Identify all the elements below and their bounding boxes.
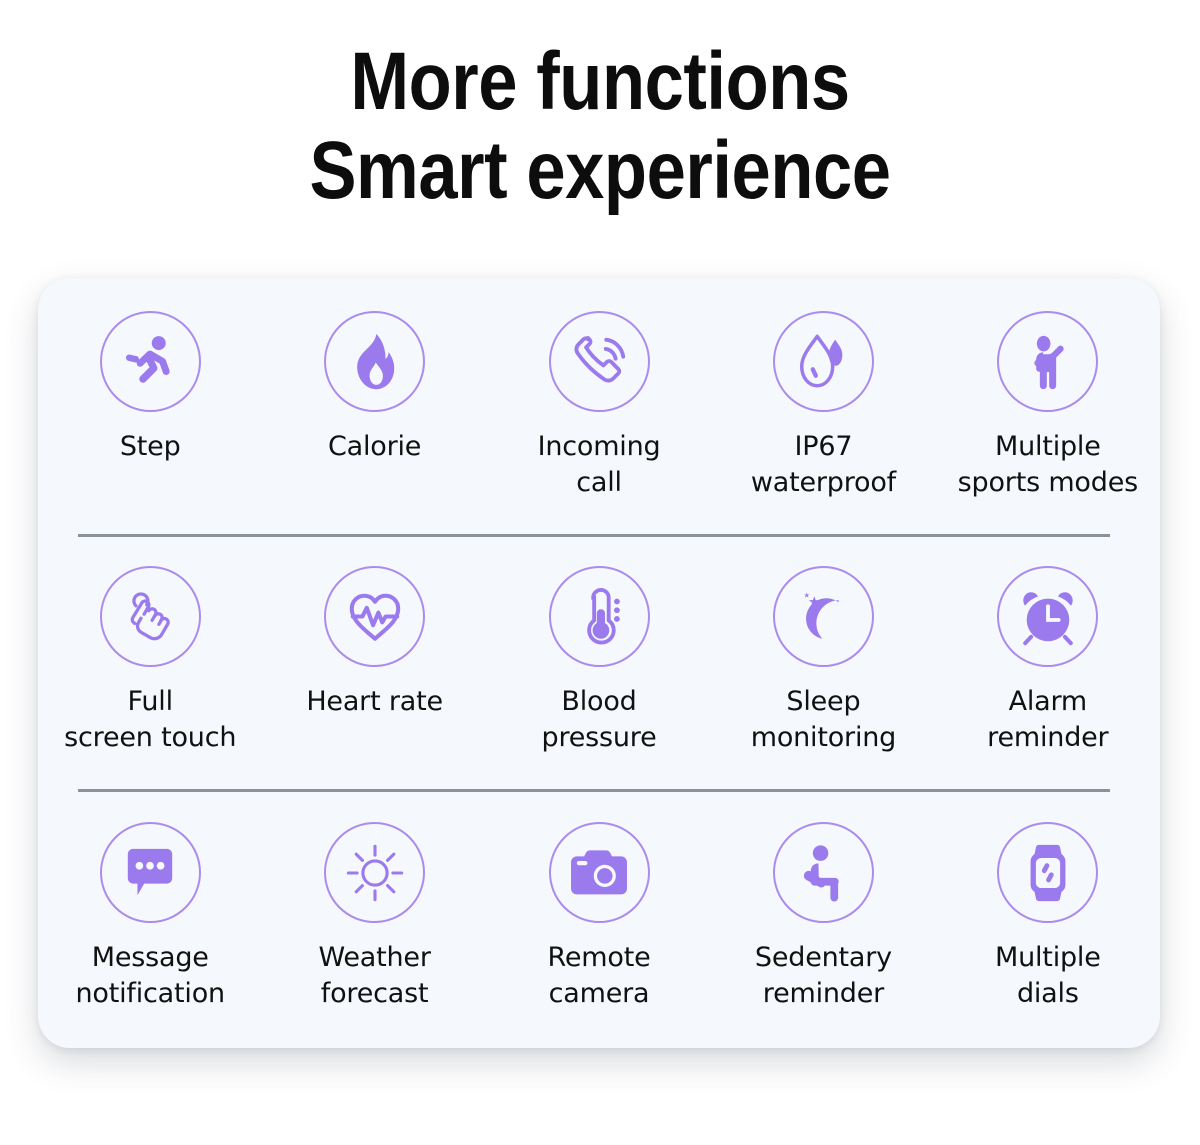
feature-label: Step (120, 429, 181, 465)
sun-icon (324, 822, 425, 923)
feature-label: Multiple dials (995, 940, 1101, 1012)
moon-stars-icon (773, 566, 874, 667)
feature-label: Blood pressure (542, 684, 657, 756)
touch-hand-icon (100, 566, 201, 667)
alarm-clock-icon (997, 566, 1098, 667)
heart-pulse-icon (324, 566, 425, 667)
feature-label: Heart rate (306, 684, 443, 720)
page-title-line-2: Smart experience (84, 127, 1116, 216)
feature-sedentary-reminder[interactable]: Sedentary reminder (711, 822, 935, 1012)
feature-heart-rate[interactable]: Heart rate (262, 566, 486, 720)
feature-label: Weather forecast (318, 940, 430, 1012)
feature-incoming-call[interactable]: Incoming call (487, 311, 711, 501)
running-person-icon (100, 311, 201, 412)
feature-blood-pressure[interactable]: Blood pressure (487, 566, 711, 756)
feature-multiple-dials[interactable]: Multiple dials (936, 822, 1160, 1012)
feature-row: Step Calorie (38, 278, 1160, 537)
smartwatch-icon (997, 822, 1098, 923)
feature-calorie[interactable]: Calorie (262, 311, 486, 465)
message-bubble-icon (100, 822, 201, 923)
feature-row: Message notification (38, 792, 1160, 1048)
phone-ringing-icon (549, 311, 650, 412)
feature-label: IP67 waterproof (751, 429, 896, 501)
feature-label: Full screen touch (64, 684, 236, 756)
feature-label: Message notification (75, 940, 224, 1012)
feature-sleep-monitoring[interactable]: Sleep monitoring (711, 566, 935, 756)
feature-label: Sedentary reminder (755, 940, 892, 1012)
feature-label: Remote camera (548, 940, 651, 1012)
features-card: Step Calorie (38, 278, 1160, 1048)
flame-icon (324, 311, 425, 412)
thermometer-icon (549, 566, 650, 667)
feature-multiple-sports-modes[interactable]: Multiple sports modes (936, 311, 1160, 501)
stretching-person-icon (997, 311, 1098, 412)
feature-message-notification[interactable]: Message notification (38, 822, 262, 1012)
water-drop-icon (773, 311, 874, 412)
camera-icon (549, 822, 650, 923)
feature-ip67-waterproof[interactable]: IP67 waterproof (711, 311, 935, 501)
feature-label: Multiple sports modes (958, 429, 1138, 501)
feature-label: Incoming call (538, 429, 661, 501)
feature-label: Alarm reminder (987, 684, 1108, 756)
page-title-line-1: More functions (84, 38, 1116, 127)
feature-full-screen-touch[interactable]: Full screen touch (38, 566, 262, 756)
feature-alarm-reminder[interactable]: Alarm reminder (936, 566, 1160, 756)
feature-label: Calorie (328, 429, 421, 465)
feature-remote-camera[interactable]: Remote camera (487, 822, 711, 1012)
sitting-person-icon (773, 822, 874, 923)
feature-row: Full screen touch Heart rate (38, 537, 1160, 792)
feature-weather-forecast[interactable]: Weather forecast (262, 822, 486, 1012)
feature-step[interactable]: Step (38, 311, 262, 465)
page-title: More functions Smart experience (84, 0, 1116, 215)
feature-rows: Step Calorie (38, 278, 1160, 1048)
feature-label: Sleep monitoring (751, 684, 896, 756)
